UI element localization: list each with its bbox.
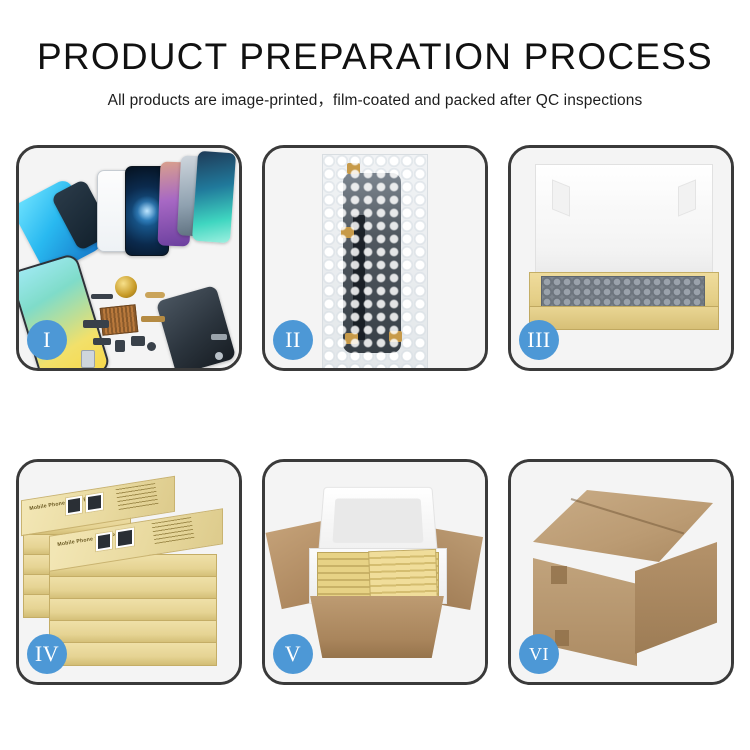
foam-box-lid bbox=[318, 487, 438, 554]
header: PRODUCT PREPARATION PROCESS All products… bbox=[0, 0, 750, 110]
tape-piece bbox=[345, 333, 358, 344]
part-dark-strip bbox=[353, 215, 365, 340]
step-badge-3: III bbox=[519, 320, 559, 360]
box-window bbox=[95, 531, 113, 553]
step-3-illustration: III bbox=[511, 148, 731, 368]
bubble-wrapped-contents bbox=[541, 276, 705, 310]
page-title: PRODUCT PREPARATION PROCESS bbox=[0, 38, 750, 77]
vibration-motor bbox=[115, 276, 137, 298]
tape-piece bbox=[347, 163, 360, 174]
carton-top-face bbox=[533, 490, 713, 562]
step-badge-4: IV bbox=[27, 634, 67, 674]
box-window bbox=[85, 491, 104, 513]
process-step-grid: I II bbox=[16, 145, 734, 685]
box-window bbox=[115, 526, 135, 549]
carton-body bbox=[301, 596, 453, 658]
wrapped-spare-part bbox=[343, 173, 401, 353]
retail-box bbox=[49, 642, 217, 666]
page-subtitle: All products are image-printed，film-coat… bbox=[0, 88, 750, 110]
process-step-panel-5: V bbox=[262, 459, 488, 685]
spare-part bbox=[83, 320, 109, 328]
process-step-panel-4: Mobile Phone Spare Parts Mobile Phone Sp… bbox=[16, 459, 242, 685]
retail-box bbox=[49, 576, 217, 600]
retail-box bbox=[49, 620, 217, 644]
phone-back-housing bbox=[156, 285, 237, 371]
spare-part bbox=[91, 294, 113, 299]
step-badge-1: I bbox=[27, 320, 67, 360]
process-step-panel-3: III bbox=[508, 145, 734, 371]
screw bbox=[215, 352, 223, 360]
step-2-illustration: II bbox=[265, 148, 485, 368]
carton-tape-patch bbox=[555, 630, 569, 646]
tape-piece bbox=[341, 227, 354, 238]
packed-retail-boxes bbox=[368, 549, 438, 601]
spare-part bbox=[145, 292, 165, 298]
step-badge-6: VI bbox=[519, 634, 559, 674]
lid-tab-right bbox=[678, 179, 696, 216]
carton-tape-patch bbox=[551, 566, 567, 584]
spare-part bbox=[115, 340, 125, 352]
process-step-panel-6: VI bbox=[508, 459, 734, 685]
screwdriver-tool bbox=[211, 334, 227, 340]
lid-tab-left bbox=[552, 179, 570, 216]
box-window bbox=[65, 495, 83, 517]
phone-large-foreground bbox=[16, 252, 111, 371]
inner-box-front-wall bbox=[529, 306, 719, 330]
step-1-illustration: I bbox=[19, 148, 239, 368]
product-preparation-infographic: PRODUCT PREPARATION PROCESS All products… bbox=[0, 0, 750, 750]
process-step-panel-2: II bbox=[262, 145, 488, 371]
spare-part bbox=[131, 336, 145, 346]
step-5-illustration: V bbox=[265, 462, 485, 682]
tape-piece bbox=[389, 331, 402, 342]
spare-part bbox=[93, 338, 111, 345]
step-6-illustration: VI bbox=[511, 462, 731, 682]
process-step-panel-1: I bbox=[16, 145, 242, 371]
phone-teal bbox=[192, 151, 236, 243]
foam-lid-recess bbox=[332, 498, 423, 542]
spare-part bbox=[81, 350, 95, 368]
flex-cable bbox=[141, 316, 165, 322]
spare-part bbox=[147, 342, 156, 351]
bubble-wrap-bag bbox=[322, 154, 428, 370]
step-badge-2: II bbox=[273, 320, 313, 360]
retail-box bbox=[49, 598, 217, 622]
inner-box-lid bbox=[535, 164, 713, 288]
step-badge-5: V bbox=[273, 634, 313, 674]
step-4-illustration: Mobile Phone Spare Parts Mobile Phone Sp… bbox=[19, 462, 239, 682]
